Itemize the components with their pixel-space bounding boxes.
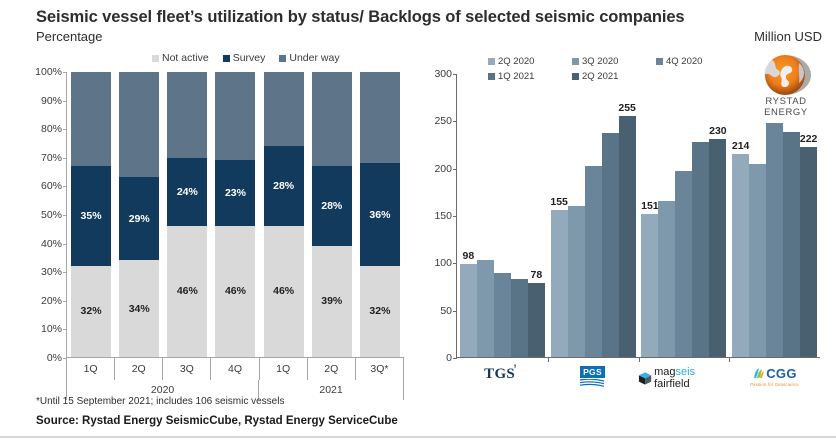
bar-value-label: 32% xyxy=(81,305,102,317)
y-tick xyxy=(63,129,67,130)
legend-item-survey[interactable]: Survey xyxy=(223,52,266,64)
bar-value-label: 35% xyxy=(81,210,102,222)
x-tick-label-quarter: 1Q xyxy=(66,358,115,380)
company-logo-pgs: PGS xyxy=(547,362,638,398)
bar-value-label: 46% xyxy=(225,285,246,297)
bar[interactable]: 151 xyxy=(641,214,658,357)
y-tick xyxy=(63,272,67,273)
bar[interactable] xyxy=(494,273,511,357)
bottom-divider xyxy=(0,436,836,438)
bar-segment-notactive: 34% xyxy=(119,260,159,357)
cgg-tagline: Passion for Geoscience xyxy=(750,382,799,387)
left-chart-subtitle: Percentage xyxy=(36,29,103,44)
bar[interactable] xyxy=(477,260,494,357)
legend-item-2q-2020[interactable]: 2Q 2020 xyxy=(488,56,572,67)
bar-value-label: 222 xyxy=(800,133,818,145)
company-logo-tgs: TGS ’ xyxy=(456,362,547,398)
x-tick-label-quarter: 3Q* xyxy=(356,358,404,380)
y-tick-label: 50% xyxy=(41,209,62,221)
bar-segment-notactive: 46% xyxy=(215,226,255,357)
tgs-swoosh-icon: ’ xyxy=(513,361,517,381)
y-tick-label: 250 xyxy=(434,115,452,127)
bar[interactable]: 155 xyxy=(551,210,568,357)
legend-label: 4Q 2020 xyxy=(666,56,702,67)
legend-swatch xyxy=(656,58,663,65)
y-tick xyxy=(63,158,67,159)
x-tick-label-quarter: 2Q xyxy=(308,358,356,380)
stacked-bar[interactable]: 28%39% xyxy=(312,72,352,357)
y-tick xyxy=(453,358,457,359)
pgs-logo-text: PGS xyxy=(580,366,605,378)
legend-item-not-active[interactable]: Not active xyxy=(152,52,209,64)
page-title: Seismic vessel fleet’s utilization by st… xyxy=(36,8,685,27)
bar-value-label: 78 xyxy=(531,269,543,281)
y-tick xyxy=(63,101,67,102)
legend-item-4q-2020[interactable]: 4Q 2020 xyxy=(656,56,740,67)
bar-segment-survey: 24% xyxy=(167,158,207,226)
cgg-logo-text: CGG xyxy=(766,366,797,381)
y-tick xyxy=(453,216,457,217)
legend-swatch-survey xyxy=(223,55,230,62)
utilization-plot-area: 35%32%29%34%24%46%23%46%28%46%28%39%36%3… xyxy=(66,72,404,358)
bar-segment-notactive: 46% xyxy=(264,226,304,357)
bar-segment-underway xyxy=(215,72,255,160)
y-tick-label: 90% xyxy=(41,95,62,107)
bar-value-label: 46% xyxy=(273,285,294,297)
bar-segment-survey: 35% xyxy=(71,166,111,266)
bar-segment-survey: 36% xyxy=(360,163,400,266)
y-tick xyxy=(63,244,67,245)
source-line: Source: Rystad Energy SeismicCube, Rysta… xyxy=(36,415,398,427)
stacked-bar[interactable]: 28%46% xyxy=(264,72,304,357)
y-tick-label: 30% xyxy=(41,266,62,278)
tgs-logo-text: TGS xyxy=(484,366,515,383)
y-tick-label: 100 xyxy=(434,257,452,269)
y-tick xyxy=(63,329,67,330)
bar[interactable]: 255 xyxy=(619,116,636,357)
footnote: *Until 15 September 2021; includes 106 s… xyxy=(36,396,284,407)
bar[interactable] xyxy=(658,201,675,357)
bar-segment-underway xyxy=(71,72,111,166)
bar[interactable] xyxy=(568,206,585,357)
legend-swatch-not-active xyxy=(152,55,159,62)
bar[interactable] xyxy=(766,123,783,357)
bar-value-label: 28% xyxy=(273,180,294,192)
bar-segment-survey: 29% xyxy=(119,177,159,260)
utilization-x-axis-quarters: 1Q2Q3Q4Q1Q2Q3Q* xyxy=(66,358,404,380)
utilization-legend: Not active Survey Under way xyxy=(152,52,362,64)
legend-item-3q-2020[interactable]: 3Q 2020 xyxy=(572,56,656,67)
bar-group: 151230 xyxy=(639,74,730,357)
bar-segment-underway xyxy=(360,72,400,163)
legend-swatch xyxy=(488,58,495,65)
legend-item-under-way[interactable]: Under way xyxy=(279,52,339,64)
bar-segment-survey: 28% xyxy=(264,146,304,226)
utilization-chart: Not active Survey Under way 35%32%29%34%… xyxy=(22,50,417,380)
backlog-plot-area: 9878155255151230214222 05010015020025030… xyxy=(456,74,820,358)
pgs-waves-icon xyxy=(580,379,604,388)
bar-value-label: 151 xyxy=(641,200,659,212)
utilization-bars: 35%32%29%34%24%46%23%46%28%46%28%39%36%3… xyxy=(67,72,404,357)
bar-value-label: 28% xyxy=(321,200,342,212)
bar-value-label: 39% xyxy=(321,295,342,307)
legend-label: 2Q 2020 xyxy=(498,56,534,67)
bar-value-label: 36% xyxy=(369,209,390,221)
y-tick xyxy=(453,121,457,122)
bar-segment-survey: 28% xyxy=(312,166,352,246)
x-tick-label-quarter: 3Q xyxy=(163,358,211,380)
x-tick-label-quarter: 1Q xyxy=(260,358,308,380)
legend-swatch-under-way xyxy=(279,55,286,62)
bar-value-label: 34% xyxy=(129,303,150,315)
legend-label-not-active: Not active xyxy=(162,52,209,64)
bar-value-label: 29% xyxy=(129,213,150,225)
backlog-company-logos: TGS ’ PGS xyxy=(456,362,820,398)
y-tick-label: 10% xyxy=(41,323,62,335)
cgg-mark-icon xyxy=(752,367,765,380)
bar[interactable] xyxy=(783,132,800,357)
stacked-bar[interactable]: 23%46% xyxy=(215,72,255,357)
bar[interactable] xyxy=(511,279,528,357)
bar-value-label: 32% xyxy=(369,305,390,317)
right-chart-subtitle: Million USD xyxy=(754,29,822,44)
magseis-fairfield-logo-text: magseis fairfield xyxy=(654,366,729,390)
y-tick-label: 60% xyxy=(41,180,62,192)
bar-group: 155255 xyxy=(548,74,639,357)
y-tick-label: 70% xyxy=(41,152,62,164)
y-tick-label: 100% xyxy=(35,66,62,78)
company-logo-magseis-fairfield: magseis fairfield xyxy=(638,362,729,398)
bar-segment-underway xyxy=(312,72,352,166)
bar-segment-notactive: 39% xyxy=(312,246,352,357)
stacked-bar[interactable]: 24%46% xyxy=(167,72,207,357)
bar-segment-survey: 23% xyxy=(215,160,255,226)
bar[interactable] xyxy=(585,166,602,357)
bar-segment-notactive: 32% xyxy=(71,266,111,357)
bar[interactable] xyxy=(675,171,692,357)
legend-label: 3Q 2020 xyxy=(582,56,618,67)
bar[interactable]: 222 xyxy=(800,147,817,357)
bar[interactable] xyxy=(692,142,709,357)
legend-label-survey: Survey xyxy=(233,52,266,64)
cube-icon xyxy=(638,371,652,386)
bar[interactable] xyxy=(749,164,766,357)
y-tick-label: 80% xyxy=(41,123,62,135)
bar-value-label: 23% xyxy=(225,187,246,199)
chart-page: Seismic vessel fleet’s utilization by st… xyxy=(0,0,836,440)
y-tick xyxy=(63,301,67,302)
stacked-bar[interactable]: 35%32% xyxy=(71,72,111,357)
bar-segment-notactive: 32% xyxy=(360,266,400,357)
company-logo-cgg: CGG Passion for Geoscience xyxy=(729,362,820,398)
y-tick xyxy=(453,311,457,312)
bar-value-label: 214 xyxy=(732,140,750,152)
bar-segment-notactive: 46% xyxy=(167,226,207,357)
bar[interactable]: 214 xyxy=(732,154,749,357)
y-tick xyxy=(63,215,67,216)
y-tick xyxy=(453,74,457,75)
bar-segment-underway xyxy=(264,72,304,146)
x-tick-label-quarter: 4Q xyxy=(211,358,259,380)
bar-value-label: 255 xyxy=(618,102,636,114)
y-tick-label: 50 xyxy=(440,305,452,317)
bar-value-label: 98 xyxy=(463,250,475,262)
y-tick xyxy=(453,263,457,264)
stacked-bar[interactable]: 36%32% xyxy=(360,72,400,357)
y-tick xyxy=(453,169,457,170)
bar-group: 214222 xyxy=(729,74,820,357)
bar[interactable]: 78 xyxy=(528,283,545,357)
bar-group: 9878 xyxy=(457,74,548,357)
y-tick-label: 20% xyxy=(41,295,62,307)
bar-segment-underway xyxy=(167,72,207,158)
y-tick-label: 150 xyxy=(434,210,452,222)
backlog-bar-groups: 9878155255151230214222 xyxy=(457,74,820,357)
bar[interactable]: 230 xyxy=(709,139,726,357)
backlog-chart: 2Q 20203Q 20204Q 20201Q 20212Q 2021 9878… xyxy=(420,50,836,380)
y-tick xyxy=(63,186,67,187)
bar[interactable] xyxy=(602,133,619,357)
y-tick-label: 40% xyxy=(41,238,62,250)
y-tick-label: 0% xyxy=(47,352,62,364)
stacked-bar[interactable]: 29%34% xyxy=(119,72,159,357)
bar-segment-underway xyxy=(119,72,159,177)
legend-label-under-way: Under way xyxy=(289,52,339,64)
bar-value-label: 230 xyxy=(709,125,727,137)
y-tick-label: 200 xyxy=(434,163,452,175)
bar-value-label: 155 xyxy=(550,196,568,208)
legend-swatch xyxy=(572,58,579,65)
bar-value-label: 24% xyxy=(177,186,198,198)
y-tick-label: 0 xyxy=(446,352,452,364)
y-tick-label: 300 xyxy=(434,68,452,80)
bar[interactable]: 98 xyxy=(460,264,477,357)
y-tick xyxy=(63,72,67,73)
x-tick-label-quarter: 2Q xyxy=(115,358,163,380)
bar-value-label: 46% xyxy=(177,285,198,297)
